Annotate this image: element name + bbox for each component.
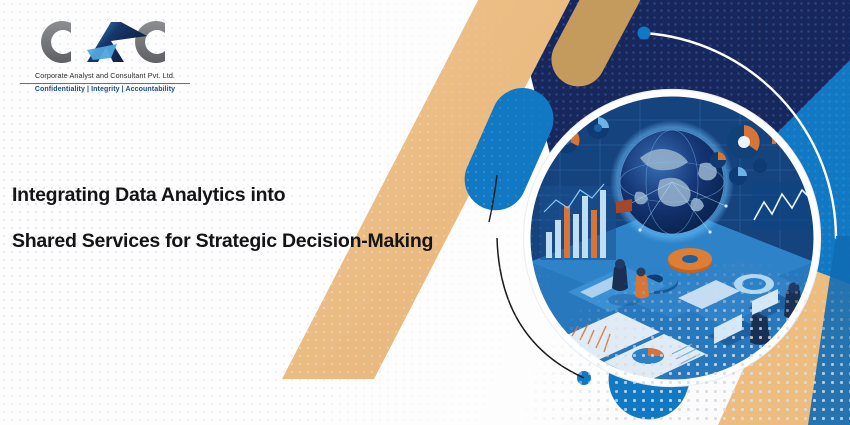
headline-block: Integrating Data Analytics into Shared S… [12,186,492,251]
headline-line-1: Integrating Data Analytics into [12,186,492,206]
banner-graphic: Corporate Analyst and Consultant Pvt. Lt… [0,0,850,425]
logo-letter-c-right [135,21,165,63]
logo-tagline: Confidentiality | Integrity | Accountabi… [14,86,196,93]
logo-letter-c-left [41,21,71,63]
cac-logo-mark [25,14,185,70]
logo-company-name: Corporate Analyst and Consultant Pvt. Lt… [14,71,196,80]
headline-line-2: Shared Services for Strategic Decision-M… [12,232,492,252]
company-logo[interactable]: Corporate Analyst and Consultant Pvt. Lt… [14,14,196,106]
logo-divider-rule [20,83,190,84]
